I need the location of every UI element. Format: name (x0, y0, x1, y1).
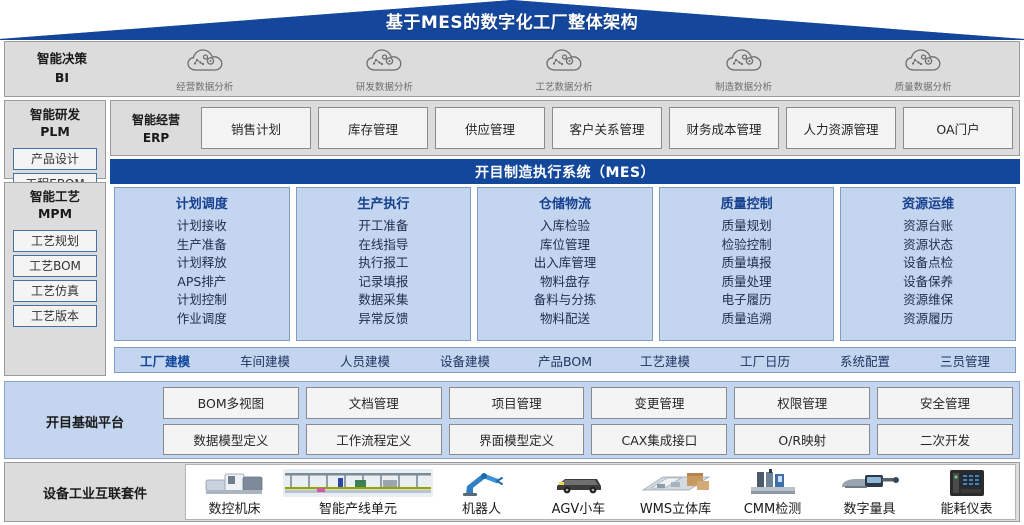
mes-column-item[interactable]: 物料配送 (540, 310, 590, 329)
title-banner: 基于MES的数字化工厂整体架构 (0, 0, 1024, 40)
page-title: 基于MES的数字化工厂整体架构 (0, 8, 1024, 33)
sidebar-plm-title-line1: 智能研发 (5, 107, 105, 124)
bi-item-label: 研发数据分析 (356, 79, 413, 93)
platform-layer-label: 开目基础平台 (15, 412, 155, 431)
platform-item-security[interactable]: 安全管理 (877, 387, 1013, 419)
mes-column-quality: 质量控制 质量规划 检验控制 质量填报 质量处理 电子履历 质量追溯 (659, 187, 835, 341)
mes-layer: 开目制造执行系统（MES） 计划调度 计划接收 生产准备 计划释放 APS排产 … (110, 159, 1020, 377)
mes-modeling-row: 工厂建模 车间建模 人员建模 设备建模 产品BOM 工艺建模 工厂日历 系统配置… (114, 347, 1016, 373)
modeling-item-personnel[interactable]: 人员建模 (315, 351, 415, 370)
erp-layer: 智能经营 ERP 销售计划 库存管理 供应管理 客户关系管理 财务成本管理 人力… (110, 100, 1020, 156)
device-item-energy-meter[interactable]: 能耗仪表 (918, 465, 1015, 519)
device-item-wms[interactable]: WMS立体库 (627, 465, 724, 519)
sidebar-mpm-title: 智能工艺 MPM (5, 183, 105, 227)
cnc-machine-icon (204, 468, 266, 498)
device-layer: 设备工业互联套件 数控机床 (4, 462, 1020, 522)
modeling-item-factory[interactable]: 工厂建模 (115, 351, 215, 370)
platform-item-bom-multiview[interactable]: BOM多视图 (163, 387, 299, 419)
device-item-agv[interactable]: AGV小车 (530, 465, 627, 519)
cloud-analytics-icon (726, 48, 762, 78)
digital-gauge-icon (839, 468, 901, 498)
platform-row-1: BOM多视图 文档管理 项目管理 变更管理 权限管理 安全管理 (163, 387, 1013, 419)
mes-column-item[interactable]: 质量填报 (722, 254, 772, 273)
platform-item-or-mapping[interactable]: O/R映射 (734, 424, 870, 456)
mes-column-item[interactable]: 备料与分拣 (534, 291, 597, 310)
bi-item-gongyi[interactable]: 工艺数据分析 (474, 44, 654, 96)
erp-label-line1: 智能经营 (117, 111, 195, 129)
mes-column-item[interactable]: 作业调度 (177, 310, 227, 329)
sidebar-plm: 智能研发 PLM 产品设计 工程EBOM (4, 100, 106, 179)
platform-item-permission[interactable]: 权限管理 (734, 387, 870, 419)
device-item-label: CMM检测 (744, 498, 802, 517)
platform-item-workflow[interactable]: 工作流程定义 (306, 424, 442, 456)
bi-items: 经营数据分析 研发数据分析 (115, 44, 1013, 96)
sidebar-plm-title-line2: PLM (5, 124, 105, 141)
platform-item-ui-model[interactable]: 界面模型定义 (449, 424, 585, 456)
platform-item-secondary-dev[interactable]: 二次开发 (877, 424, 1013, 456)
mes-header: 开目制造执行系统（MES） (110, 159, 1020, 184)
device-item-production-line[interactable]: 智能产线单元 (283, 465, 433, 519)
bi-layer-label: 智能决策 BI (17, 50, 107, 88)
bi-item-label: 制造数据分析 (715, 79, 772, 93)
sidebar-plm-item-product-design[interactable]: 产品设计 (13, 148, 97, 170)
mes-column-resource: 资源运维 资源台账 资源状态 设备点检 设备保养 资源维保 资源履历 (840, 187, 1016, 341)
cloud-analytics-icon (366, 48, 402, 78)
device-item-label: 数控机床 (208, 498, 260, 517)
modeling-item-calendar[interactable]: 工厂日历 (715, 351, 815, 370)
erp-item-hr[interactable]: 人力资源管理 (786, 107, 896, 149)
mes-column-production: 生产执行 开工准备 在线指导 执行报工 记录填报 数据采集 异常反馈 (296, 187, 472, 341)
mes-column-item[interactable]: 设备点检 (903, 254, 953, 273)
platform-item-project[interactable]: 项目管理 (449, 387, 585, 419)
bi-label-line2: BI (17, 69, 107, 88)
bi-item-label: 工艺数据分析 (535, 79, 592, 93)
platform-layer: 开目基础平台 BOM多视图 文档管理 项目管理 变更管理 权限管理 安全管理 数… (4, 381, 1020, 459)
platform-item-cax-interface[interactable]: CAX集成接口 (591, 424, 727, 456)
device-item-robot[interactable]: 机器人 (433, 465, 530, 519)
mes-column-item[interactable]: 质量处理 (722, 273, 772, 292)
mes-column-title: 资源运维 (902, 193, 954, 212)
cloud-analytics-icon (905, 48, 941, 78)
agv-cart-icon (553, 468, 605, 498)
bi-item-zhizao[interactable]: 制造数据分析 (654, 44, 834, 96)
mes-column-item[interactable]: 执行报工 (358, 254, 408, 273)
mes-column-item[interactable]: 计划接收 (177, 217, 227, 236)
mes-column-item[interactable]: 物料盘存 (540, 273, 590, 292)
modeling-item-three-member[interactable]: 三员管理 (915, 351, 1015, 370)
modeling-item-process[interactable]: 工艺建模 (615, 351, 715, 370)
device-item-label: 能耗仪表 (940, 498, 992, 517)
platform-item-change[interactable]: 变更管理 (591, 387, 727, 419)
cmm-inspection-icon (745, 468, 801, 498)
sidebar-mpm-item-process-planning[interactable]: 工艺规划 (13, 230, 97, 252)
mes-column-item[interactable]: 在线指导 (358, 236, 408, 255)
bi-item-zhiliang[interactable]: 质量数据分析 (833, 44, 1013, 96)
bi-item-label: 质量数据分析 (895, 79, 952, 93)
mes-column-item[interactable]: 质量追溯 (722, 310, 772, 329)
platform-item-data-model[interactable]: 数据模型定义 (163, 424, 299, 456)
erp-item-crm[interactable]: 客户关系管理 (552, 107, 662, 149)
sidebar-mpm-item-process-version[interactable]: 工艺版本 (13, 305, 97, 327)
mes-column-title: 质量控制 (721, 193, 773, 212)
bi-layer: 智能决策 BI 经营数据分析 (4, 41, 1020, 97)
bi-item-yanfa[interactable]: 研发数据分析 (295, 44, 475, 96)
device-items: 数控机床 智能产线单元 (185, 464, 1016, 520)
device-item-cnc[interactable]: 数控机床 (186, 465, 283, 519)
device-item-digital-gauge[interactable]: 数字量具 (821, 465, 918, 519)
mes-columns: 计划调度 计划接收 生产准备 计划释放 APS排产 计划控制 作业调度 生产执行… (110, 184, 1020, 344)
bi-label-line1: 智能决策 (17, 50, 107, 69)
device-item-label: 数字量具 (843, 498, 895, 517)
mes-column-title: 生产执行 (357, 193, 409, 212)
cloud-analytics-icon (187, 48, 223, 78)
cloud-analytics-icon (546, 48, 582, 78)
mes-column-item[interactable]: 库位管理 (540, 236, 590, 255)
sidebar-plm-title: 智能研发 PLM (5, 101, 105, 145)
mes-column-warehouse: 仓储物流 入库检验 库位管理 出入库管理 物料盘存 备料与分拣 物料配送 (477, 187, 653, 341)
mes-column-item[interactable]: 入库检验 (540, 217, 590, 236)
erp-item-oa-portal[interactable]: OA门户 (903, 107, 1013, 149)
modeling-item-system-config[interactable]: 系统配置 (815, 351, 915, 370)
platform-grid: BOM多视图 文档管理 项目管理 变更管理 权限管理 安全管理 数据模型定义 工… (163, 387, 1013, 455)
platform-row-2: 数据模型定义 工作流程定义 界面模型定义 CAX集成接口 O/R映射 二次开发 (163, 424, 1013, 456)
sidebar-mpm-title-line1: 智能工艺 (5, 189, 105, 206)
sidebar-mpm-item-process-simulation[interactable]: 工艺仿真 (13, 280, 97, 302)
mes-column-item[interactable]: 计划释放 (177, 254, 227, 273)
erp-item-inventory[interactable]: 库存管理 (318, 107, 428, 149)
erp-layer-label: 智能经营 ERP (117, 111, 195, 147)
erp-items: 销售计划 库存管理 供应管理 客户关系管理 财务成本管理 人力资源管理 OA门户 (201, 107, 1013, 149)
sidebar-mpm-title-line2: MPM (5, 206, 105, 223)
device-item-label: AGV小车 (552, 498, 606, 517)
device-item-cmm[interactable]: CMM检测 (724, 465, 821, 519)
platform-item-document[interactable]: 文档管理 (306, 387, 442, 419)
mes-column-item[interactable]: 资源履历 (903, 310, 953, 329)
mes-column-title: 计划调度 (176, 193, 228, 212)
mes-column-item[interactable]: 资源状态 (903, 236, 953, 255)
erp-label-line2: ERP (117, 129, 195, 147)
erp-item-supply[interactable]: 供应管理 (435, 107, 545, 149)
mes-column-item[interactable]: 出入库管理 (534, 254, 597, 273)
mes-column-item[interactable]: 设备保养 (903, 273, 953, 292)
mes-column-item[interactable]: 计划控制 (177, 291, 227, 310)
wms-warehouse-icon (641, 468, 711, 498)
mes-column-item[interactable]: 记录填报 (358, 273, 408, 292)
mes-column-item[interactable]: 数据采集 (358, 291, 408, 310)
erp-item-finance-cost[interactable]: 财务成本管理 (669, 107, 779, 149)
mes-column-item[interactable]: 资源台账 (903, 217, 953, 236)
mes-column-item[interactable]: 资源维保 (903, 291, 953, 310)
mes-column-planning: 计划调度 计划接收 生产准备 计划释放 APS排产 计划控制 作业调度 (114, 187, 290, 341)
energy-meter-icon (946, 468, 988, 498)
production-line-icon (283, 468, 433, 498)
mes-column-item[interactable]: 质量规划 (722, 217, 772, 236)
mes-column-title: 仓储物流 (539, 193, 591, 212)
mes-column-item[interactable]: 生产准备 (177, 236, 227, 255)
bi-item-label: 经营数据分析 (176, 79, 233, 93)
device-item-label: WMS立体库 (640, 498, 711, 517)
mes-column-item[interactable]: 开工准备 (358, 217, 408, 236)
robot-arm-icon (459, 468, 505, 498)
bi-item-jingying[interactable]: 经营数据分析 (115, 44, 295, 96)
device-layer-label: 设备工业互联套件 (15, 483, 175, 502)
mes-column-item[interactable]: 异常反馈 (358, 310, 408, 329)
device-item-label: 智能产线单元 (319, 498, 397, 517)
modeling-item-workshop[interactable]: 车间建模 (215, 351, 315, 370)
erp-item-sales-plan[interactable]: 销售计划 (201, 107, 311, 149)
modeling-item-product-bom[interactable]: 产品BOM (515, 351, 615, 370)
sidebar-mpm: 智能工艺 MPM 工艺规划 工艺BOM 工艺仿真 工艺版本 (4, 182, 106, 376)
mes-column-item[interactable]: 检验控制 (722, 236, 772, 255)
device-item-label: 机器人 (462, 498, 501, 517)
sidebar-mpm-item-process-bom[interactable]: 工艺BOM (13, 255, 97, 277)
modeling-item-equipment[interactable]: 设备建模 (415, 351, 515, 370)
mes-column-item[interactable]: APS排产 (177, 273, 226, 292)
mes-column-item[interactable]: 电子履历 (722, 291, 772, 310)
